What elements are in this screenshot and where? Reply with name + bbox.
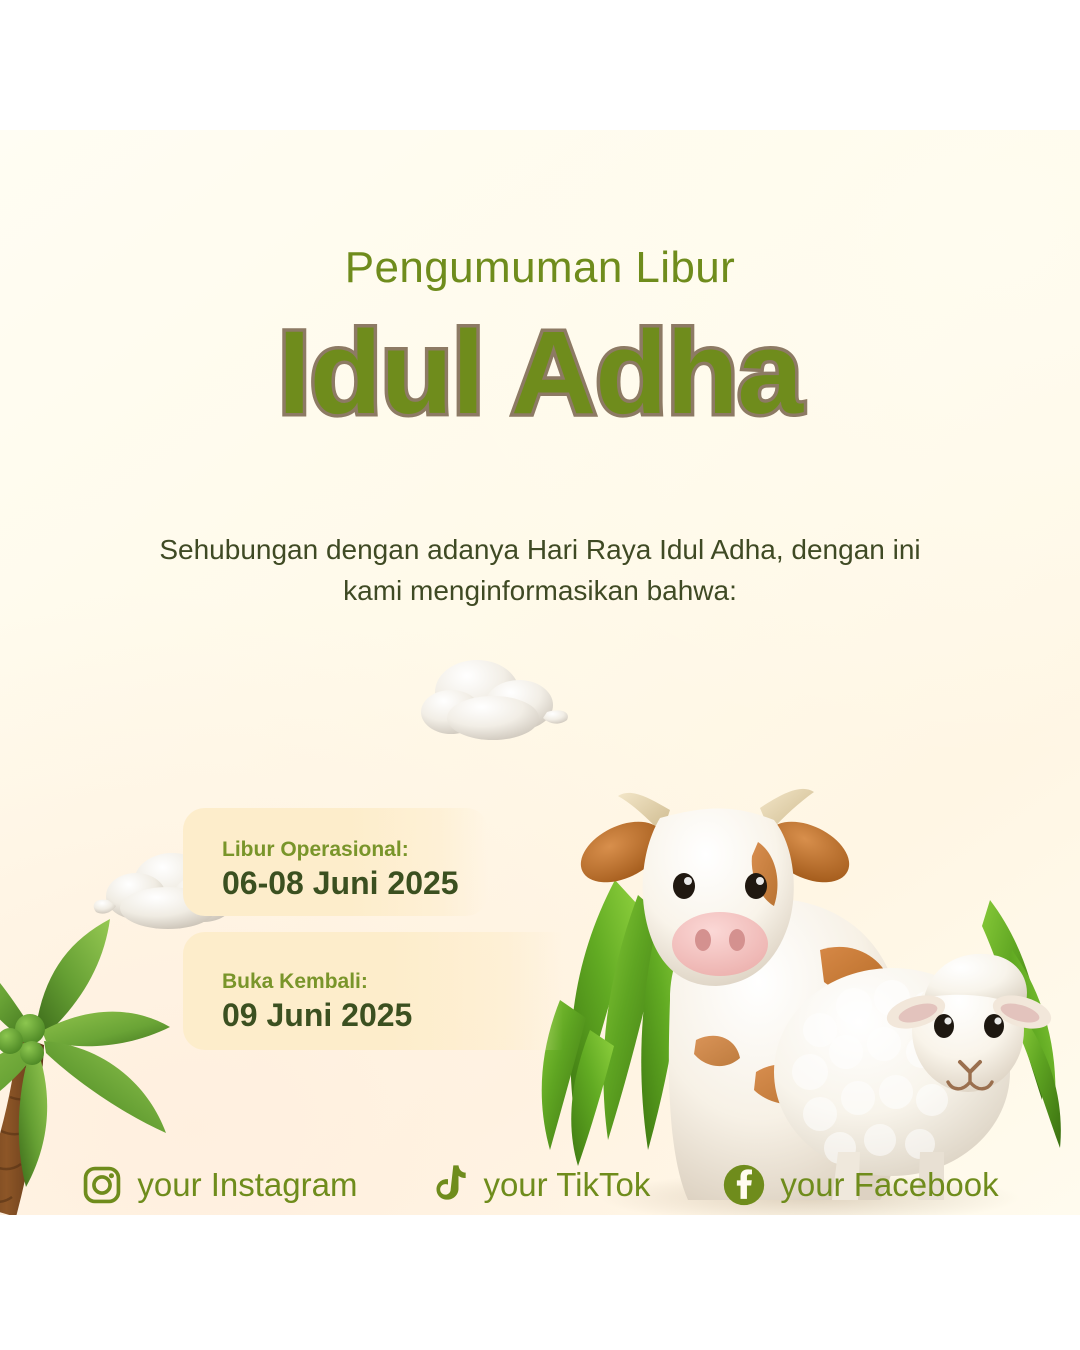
- social-label: your Instagram: [137, 1166, 357, 1204]
- cloud-upper-icon: [415, 650, 575, 745]
- info-card-holiday: Libur Operasional: 06-08 Juni 2025: [183, 808, 488, 916]
- social-label: your Facebook: [780, 1166, 998, 1204]
- social-label: your TikTok: [483, 1166, 650, 1204]
- info-card-reopen: Buka Kembali: 09 Juni 2025: [183, 932, 563, 1050]
- poster-root: Pengumuman Libur Idul Adha Sehubungan de…: [0, 0, 1080, 1350]
- social-tiktok[interactable]: your TikTok: [429, 1163, 650, 1207]
- facebook-icon[interactable]: [722, 1163, 766, 1207]
- tiktok-icon[interactable]: [429, 1163, 469, 1207]
- page-title: Idul Adha: [0, 305, 1080, 441]
- poster-canvas: Pengumuman Libur Idul Adha Sehubungan de…: [0, 130, 1080, 1215]
- social-row: your Instagram your TikTok your Facebook: [0, 1150, 1080, 1215]
- info-card-value: 09 Juni 2025: [222, 997, 412, 1034]
- info-card-value: 06-08 Juni 2025: [222, 865, 459, 902]
- social-instagram[interactable]: your Instagram: [81, 1164, 357, 1206]
- animal-scene: [520, 700, 1080, 1215]
- instagram-icon[interactable]: [81, 1164, 123, 1206]
- page-title-text: Idul Adha: [278, 307, 802, 439]
- info-card-label: Buka Kembali:: [222, 970, 368, 994]
- body-text: Sehubungan dengan adanya Hari Raya Idul …: [140, 530, 940, 611]
- social-facebook[interactable]: your Facebook: [722, 1163, 998, 1207]
- kicker-text: Pengumuman Libur: [0, 243, 1080, 293]
- info-card-label: Libur Operasional:: [222, 838, 409, 862]
